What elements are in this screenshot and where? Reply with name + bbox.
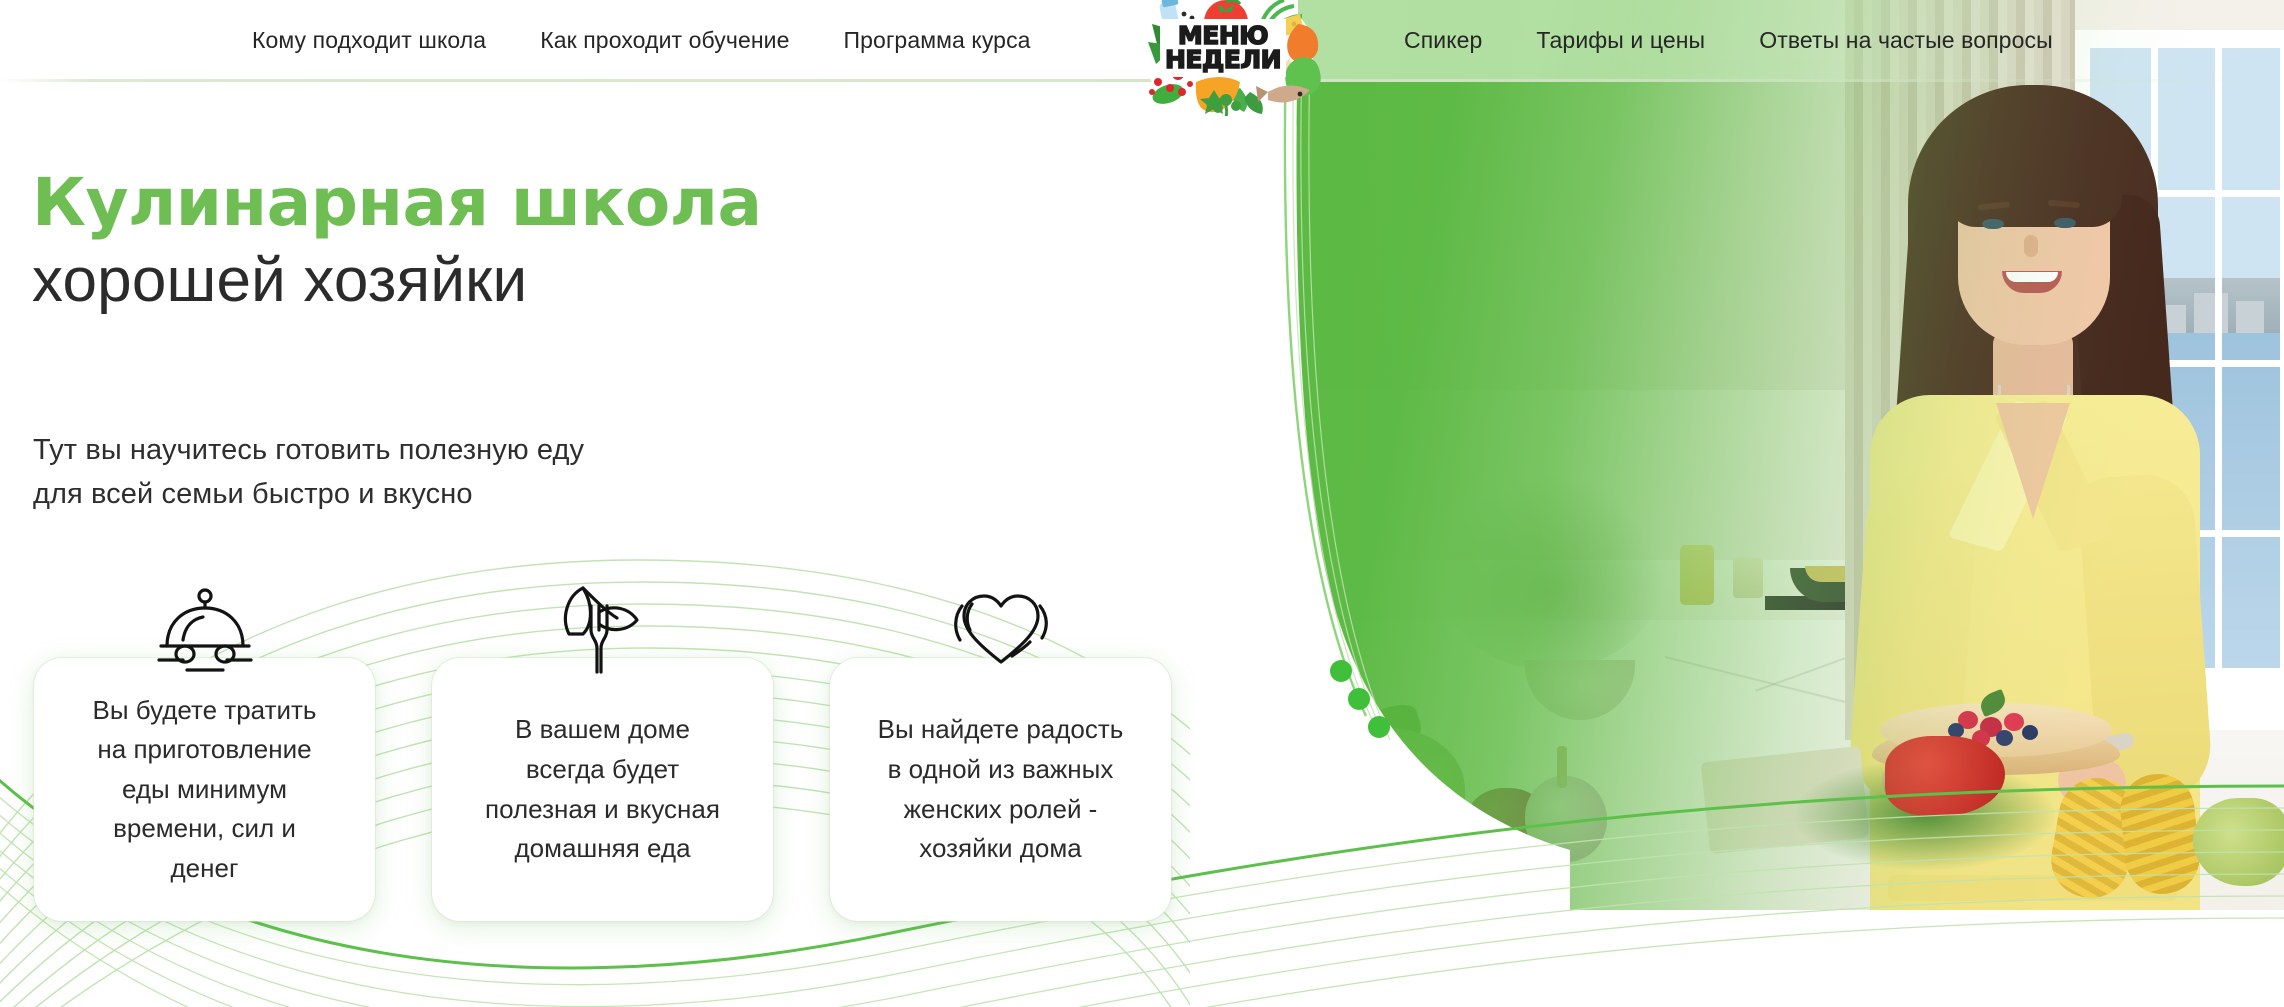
nav-how-training[interactable]: Как проходит обучение [536,21,793,60]
benefit-card-1-text: Вы будете тратить на приготовление еды м… [71,691,339,889]
benefit-card-2-text: В вашем доме всегда будет полезная и вку… [463,710,742,868]
hero-subtitle-line-1: Тут вы научитесь готовить полезную еду [33,428,584,472]
nav-faq[interactable]: Ответы на частые вопросы [1755,21,2057,60]
dot-2 [1348,688,1370,710]
logo-line-2: НЕДЕЛИ [1165,48,1281,72]
nav-who-suits[interactable]: Кому подходит школа [248,21,490,60]
site-logo[interactable]: МЕНЮ НЕДЕЛИ [1122,0,1332,116]
dot-1 [1330,660,1352,682]
vegetables-foreground [1285,718,2284,910]
heart-beat-icon [948,584,1054,672]
primary-nav-left: Кому подходит школа Как проходит обучени… [248,0,1035,81]
page-title-sub: хорошей хозяйки [32,244,762,318]
hero-subtitle: Тут вы научитесь готовить полезную еду д… [33,428,584,517]
primary-nav-right: Спикер Тарифы и цены Ответы на частые во… [1400,0,2057,81]
fork-leaf-icon [555,584,651,676]
benefit-card-1: Вы будете тратить на приготовление еды м… [34,658,375,921]
hero-heading: Кулинарная школа хорошей хозяйки [32,168,762,318]
benefit-card-3: Вы найдете радость в одной из важных жен… [830,658,1171,921]
benefit-card-2: В вашем доме всегда будет полезная и вку… [432,658,773,921]
landing-page: Кому подходит школа Как проходит обучени… [0,0,2284,1007]
nav-prices[interactable]: Тарифы и цены [1532,21,1709,60]
nav-speaker[interactable]: Спикер [1400,21,1486,60]
hero-subtitle-line-2: для всей семьи быстро и вкусно [33,472,584,516]
nav-course-program[interactable]: Программа курса [840,21,1035,60]
page-title-accent: Кулинарная школа [32,168,762,238]
benefit-cards: Вы будете тратить на приготовление еды м… [34,658,1171,921]
benefit-card-3-text: Вы найдете радость в одной из важных жен… [856,710,1146,868]
dot-3 [1368,716,1390,738]
cloche-icon [153,584,257,676]
hero-photo-panel [1285,0,2284,910]
kitchen-photo [1285,0,2284,910]
logo-wordmark: МЕНЮ НЕДЕЛИ [1160,19,1286,77]
